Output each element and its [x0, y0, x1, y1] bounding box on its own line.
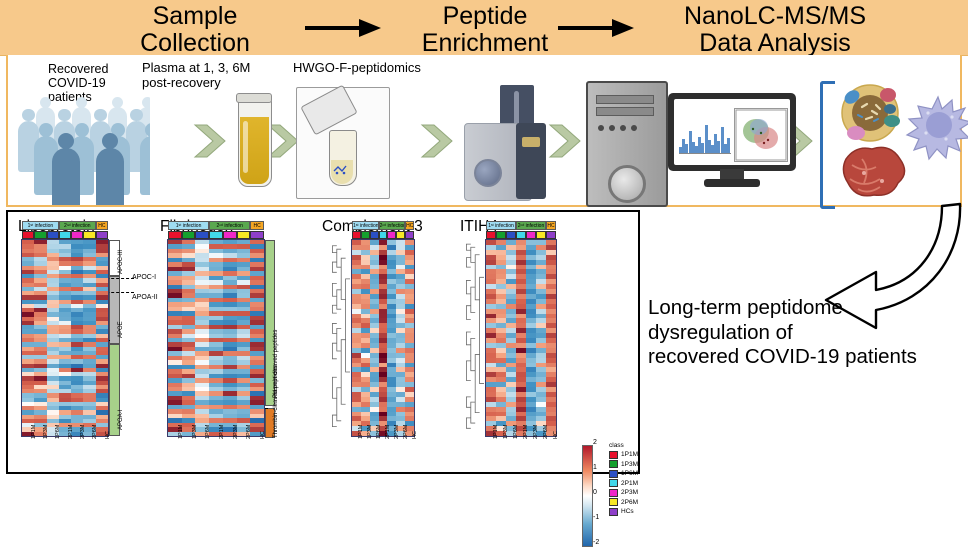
pca-plot-icon — [734, 108, 788, 162]
class-color-segment — [34, 231, 46, 239]
class-label: 2P3M — [621, 489, 638, 496]
group-seg-second-infection: 2ⁿᵈ infection — [209, 221, 250, 230]
label-hwgo-f-peptidomics: HWGO-F-peptidomics — [293, 61, 463, 76]
banner-arrow-2-icon — [558, 22, 636, 34]
label-line-1: Plasma at 1, 3, 6M — [142, 61, 292, 76]
caption-line-3: recovered COVID-19 patients — [648, 345, 960, 370]
mass-spectrometer-icon — [460, 85, 556, 201]
annotation-label-apoc3: APOC-III — [118, 250, 124, 274]
heatmap-panel: Lipoprotein Fibrinogen Complement 3 ITIH… — [6, 210, 640, 474]
class-color-segment — [536, 231, 546, 239]
class-color-segment — [379, 231, 388, 239]
heatmap-grid — [168, 240, 264, 436]
group-seg-hc: HC — [546, 221, 556, 230]
class-color-segment — [250, 231, 264, 239]
spectrum-bar — [727, 138, 730, 153]
class-label: 2P6M — [621, 499, 638, 506]
class-color-swatch — [609, 479, 618, 487]
x-axis-tick-label: 1P3M — [192, 425, 198, 439]
x-axis-tick-label: 2P3M — [394, 425, 400, 439]
class-color-segment — [223, 231, 237, 239]
x-axis-tick-label: HC — [412, 431, 418, 439]
class-color-segment — [96, 231, 108, 239]
x-axis-tick-label: 1P1M — [358, 425, 364, 439]
x-axis-tick-label: 1P1M — [31, 425, 37, 439]
flow-chevron-icon — [193, 121, 227, 161]
color-scale-tick: -1 — [593, 514, 599, 521]
group-header-bar: 1ˢᵗ infection2ⁿᵈ infectionHC — [486, 221, 556, 230]
class-color-segment — [237, 231, 251, 239]
class-color-swatch — [609, 451, 618, 459]
group-seg-second-infection: 2ⁿᵈ infection — [516, 221, 546, 230]
heatmap-legend: 210-1-2 class 1P1M1P3M1P6M2P1M2P3M2P6MHC… — [582, 442, 646, 550]
class-color-swatch — [609, 498, 618, 506]
class-color-swatch — [609, 470, 618, 478]
class-color-segment — [361, 231, 370, 239]
patient-crowd-icon — [10, 93, 150, 205]
label-line-2: COVID-19 — [48, 76, 138, 90]
class-label: 2P1M — [621, 480, 638, 487]
class-color-segment — [352, 231, 361, 239]
caption-line-2: dysregulation of — [648, 321, 960, 346]
class-color-segment — [83, 231, 95, 239]
banner-step-line2: Collection — [100, 30, 290, 57]
x-axis-tick-label: 1P1M — [178, 425, 184, 439]
workflow-banner: Sample Collection Peptide Enrichment Nan… — [0, 0, 968, 56]
x-axis-tick-label: 2P3M — [533, 425, 539, 439]
x-axis-tick-label: 2P6M — [403, 425, 409, 439]
blood-collection-tube-icon — [236, 91, 272, 203]
callout-apoa2: APOA-II — [132, 294, 158, 301]
desktop-computer-icon — [586, 81, 668, 207]
class-legend-row: 2P3M — [609, 488, 649, 498]
class-color-swatch — [609, 508, 618, 516]
group-header-bar: 1ˢᵗ infection2ⁿᵈ infectionHC — [22, 221, 108, 230]
class-color-segment — [195, 231, 209, 239]
class-color-segment — [182, 231, 196, 239]
class-color-bar — [486, 231, 556, 239]
color-scale-tick: 0 — [593, 489, 597, 496]
x-axis-tick-label: 2P1M — [219, 425, 225, 439]
class-legend-row: 2P6M — [609, 498, 649, 508]
row-dendrogram — [464, 240, 486, 436]
group-header-bar: 1ˢᵗ infection2ⁿᵈ infectionHC — [168, 221, 264, 230]
x-axis-tick-label: 1P6M — [376, 425, 382, 439]
class-color-bar — [22, 231, 108, 239]
conclusion-caption: Long-term peptidome dysregulation of rec… — [648, 296, 960, 370]
color-scale-tick: -2 — [593, 539, 599, 546]
x-axis-tick-label: 1P6M — [55, 425, 61, 439]
heatmap-grid — [486, 240, 556, 436]
class-legend-row: 1P6M — [609, 469, 649, 479]
x-axis-tick-label: 2P6M — [246, 425, 252, 439]
color-scale-ticks: 210-1-2 — [593, 442, 607, 548]
class-color-segment — [546, 231, 556, 239]
class-color-segment — [71, 231, 83, 239]
x-axis-tick-label: 2P3M — [80, 425, 86, 439]
class-label: 1P3M — [621, 461, 638, 468]
peptide-enrichment-icon — [296, 87, 390, 199]
callout-apoc1: APOC-I — [132, 274, 156, 281]
color-scale-tick: 2 — [593, 439, 597, 446]
banner-step-line1: Sample — [100, 3, 290, 30]
class-legend-row: HCs — [609, 507, 649, 517]
group-seg-hc: HC — [405, 221, 414, 230]
mass-spectrum-plot-icon — [679, 109, 731, 159]
class-color-segment — [405, 231, 414, 239]
banner-step-line2: Data Analysis — [640, 30, 910, 57]
heatmap-grid — [22, 240, 108, 436]
banner-arrow-1-icon — [305, 22, 383, 34]
banner-step-peptide-enrichment: Peptide Enrichment — [395, 3, 575, 57]
monitor-data-analysis-icon — [668, 93, 796, 189]
group-seg-first-infection: 1ˢᵗ infection — [22, 221, 59, 230]
class-color-segment — [59, 231, 71, 239]
group-seg-second-infection: 2ⁿᵈ infection — [379, 221, 406, 230]
banner-step-line1: Peptide — [395, 3, 575, 30]
x-axis-tick-label: 1P3M — [43, 425, 49, 439]
heatmap-grid — [352, 240, 414, 436]
class-color-bar — [168, 231, 264, 239]
x-axis-tick-label: 1P6M — [513, 425, 519, 439]
class-color-bar — [352, 231, 414, 239]
class-color-swatch — [609, 460, 618, 468]
color-scale-tick: 1 — [593, 464, 597, 471]
annotation-label-thrombin: Thrombin-cleaved peptides — [273, 366, 279, 438]
class-color-segment — [209, 231, 223, 239]
label-line-1: Recovered — [48, 62, 138, 76]
annotation-label-apoe: APOE — [118, 321, 124, 338]
class-color-segment — [22, 231, 34, 239]
row-dendrogram — [326, 240, 352, 436]
class-label: 1P6M — [621, 470, 638, 477]
x-axis-tick-label: 2P6M — [92, 425, 98, 439]
flow-chevron-icon — [420, 121, 454, 161]
class-color-segment — [496, 231, 506, 239]
group-seg-first-infection: 1ˢᵗ infection — [168, 221, 209, 230]
erythrocyte-clot-icon — [843, 147, 904, 195]
class-legend-row: 1P1M — [609, 450, 649, 460]
class-color-swatch — [609, 489, 618, 497]
caption-line-1: Long-term peptidome — [648, 296, 960, 321]
annotation-label-apoa1: APOA-I — [118, 410, 124, 430]
x-axis-tick-label: 1P3M — [503, 425, 509, 439]
x-axis-tick-label: 1P3M — [367, 425, 373, 439]
lipoprotein-particle-icon — [842, 85, 900, 141]
class-color-segment — [506, 231, 516, 239]
banner-step-sample-collection: Sample Collection — [100, 3, 290, 57]
group-seg-second-infection: 2ⁿᵈ infection — [59, 221, 96, 230]
class-color-segment — [47, 231, 59, 239]
x-axis-tick-label: 2P6M — [543, 425, 549, 439]
class-color-segment — [516, 231, 526, 239]
workflow-illustration-row: Recovered COVID-19 patients Plasma at 1,… — [6, 55, 962, 207]
banner-step-line1: NanoLC-MS/MS — [640, 3, 910, 30]
x-axis-tick-label: 2P3M — [233, 425, 239, 439]
x-axis-tick-label: 2P1M — [68, 425, 74, 439]
x-axis-tick-label: HC — [105, 431, 111, 439]
class-legend-row: 2P1M — [609, 479, 649, 489]
group-seg-hc: HC — [250, 221, 264, 230]
group-seg-first-infection: 1ˢᵗ infection — [486, 221, 516, 230]
label-line-2: post-recovery — [142, 76, 292, 91]
class-label: 1P1M — [621, 451, 638, 458]
label-plasma-timepoints: Plasma at 1, 3, 6M post-recovery — [142, 61, 292, 90]
banner-step-line2: Enrichment — [395, 30, 575, 57]
class-legend-title: class — [609, 442, 649, 449]
biology-icons-group — [828, 81, 968, 203]
class-color-segment — [486, 231, 496, 239]
class-legend: class 1P1M1P3M1P6M2P1M2P3M2P6MHCs — [609, 442, 649, 517]
x-axis-tick-label: 1P1M — [493, 425, 499, 439]
group-seg-first-infection: 1ˢᵗ infection — [352, 221, 379, 230]
x-axis-tick-label: HC — [553, 431, 559, 439]
class-color-segment — [387, 231, 396, 239]
class-color-segment — [168, 231, 182, 239]
x-axis-tick-label: 1P6M — [205, 425, 211, 439]
group-seg-hc: HC — [96, 221, 108, 230]
class-color-segment — [526, 231, 536, 239]
x-axis-tick-label: 2P1M — [523, 425, 529, 439]
color-scale-bar — [582, 445, 593, 547]
group-header-bar: 1ˢᵗ infection2ⁿᵈ infectionHC — [352, 221, 414, 230]
class-color-segment — [396, 231, 405, 239]
class-color-segment — [370, 231, 379, 239]
x-axis-tick-label: HC — [260, 431, 266, 439]
class-legend-row: 1P3M — [609, 460, 649, 470]
class-label: HCs — [621, 508, 634, 515]
immune-cell-icon — [907, 97, 968, 159]
x-axis-tick-label: 2P1M — [385, 425, 391, 439]
banner-step-nanolc-analysis: NanoLC-MS/MS Data Analysis — [640, 3, 910, 57]
